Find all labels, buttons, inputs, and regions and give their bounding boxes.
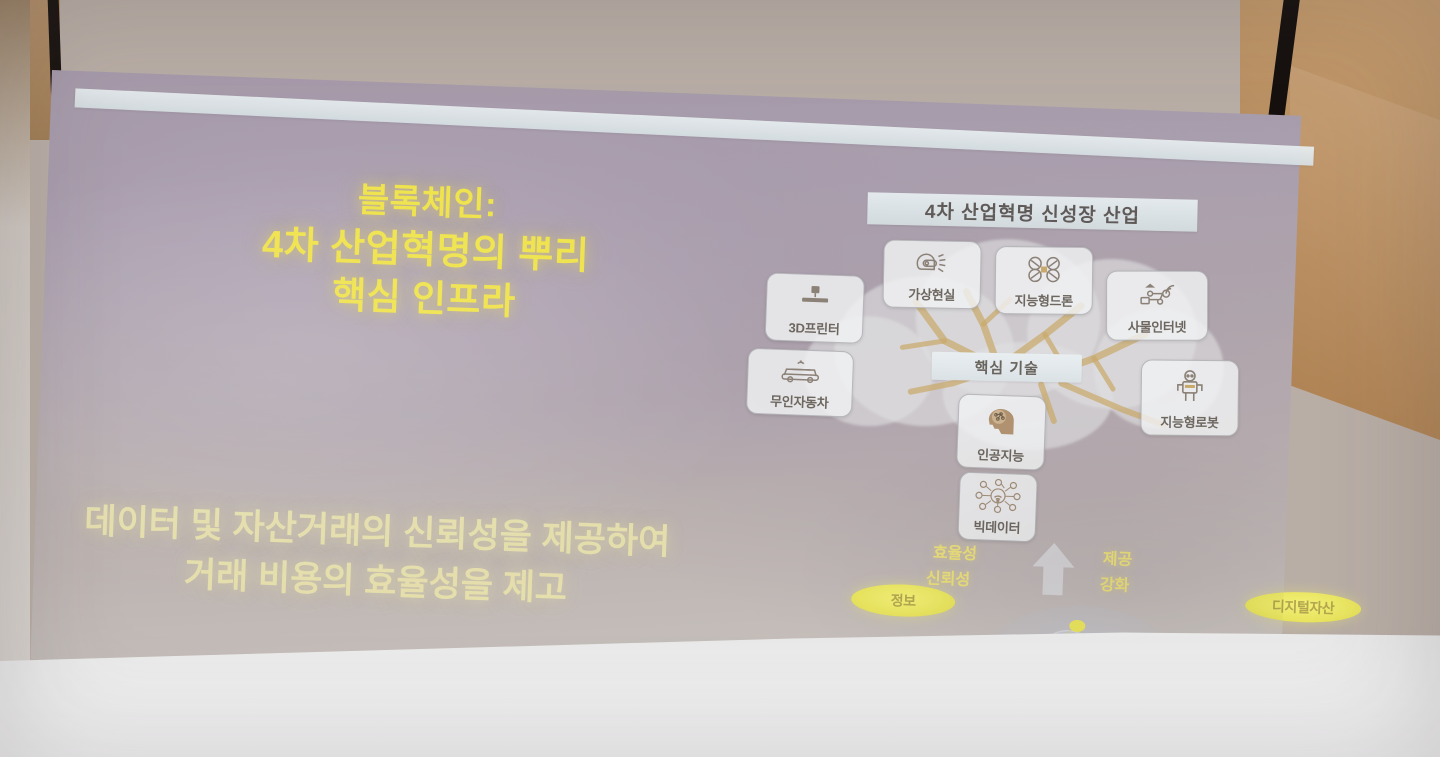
card-3d-printer[interactable]: 3D프린터 [765,272,865,344]
card-intelligent-robot[interactable]: 지능형로봇 [1140,359,1239,436]
cardboard-panel-right-2 [1290,65,1440,440]
slide-surface: 블록체인: 4차 산업혁명의 뿌리 핵심 인프라 데이터 및 자산거래의 신뢰성… [30,70,1301,705]
vr-headset-icon [884,240,981,285]
diagram: 4차 산업혁명 신성장 산업 [730,164,1308,694]
self-driving-car-icon [748,349,853,394]
card-virtual-reality[interactable]: 가상현실 [882,239,981,309]
ai-brain-icon [958,394,1046,446]
flow-indicator: 효율성 신뢰성 제공 강화 [913,538,1215,609]
card-label: 무인자동차 [770,391,829,412]
projected-slide-photo: 블록체인: 4차 산업혁명의 뿌리 핵심 인프라 데이터 및 자산거래의 신뢰성… [0,0,1440,757]
flow-word-trust: 신뢰성 [926,564,971,590]
wall-left-strip [0,0,30,757]
card-big-data[interactable]: 빅데이터 [957,472,1037,543]
card-label: 지능형드론 [1014,290,1073,310]
big-data-icon [959,473,1037,519]
page-title: 블록체인: 4차 산업혁명의 뿌리 핵심 인프라 [163,169,688,332]
core-technology-label: 핵심 기술 [931,352,1082,383]
card-self-driving-car[interactable]: 무인자동차 [746,348,854,418]
card-label: 인공지능 [977,444,1024,465]
card-intelligent-drone[interactable]: 지능형드론 [995,246,1094,315]
drone-icon [996,247,1092,291]
card-label: 사물인터넷 [1128,317,1186,336]
up-arrow-icon [1023,538,1083,598]
3d-printer-icon [766,273,864,319]
card-internet-of-things[interactable]: 사물인터넷 [1106,271,1208,341]
iot-network-icon [1107,272,1207,317]
card-label: 지능형로봇 [1160,412,1219,432]
card-label: 빅데이터 [973,516,1020,537]
diagram-title: 4차 산업혁명 신성장 산업 [867,192,1198,231]
flow-word-strengthen: 강화 [1099,571,1129,596]
robot-icon [1142,360,1239,412]
flow-word-provide: 제공 [1102,545,1132,570]
card-label: 3D프린터 [788,317,840,338]
pill-digital-asset[interactable]: 디지털자산 [1245,590,1362,624]
card-label: 가상현실 [908,284,955,304]
card-artificial-intelligence[interactable]: 인공지능 [956,393,1047,470]
flow-word-efficiency: 효율성 [933,539,978,565]
